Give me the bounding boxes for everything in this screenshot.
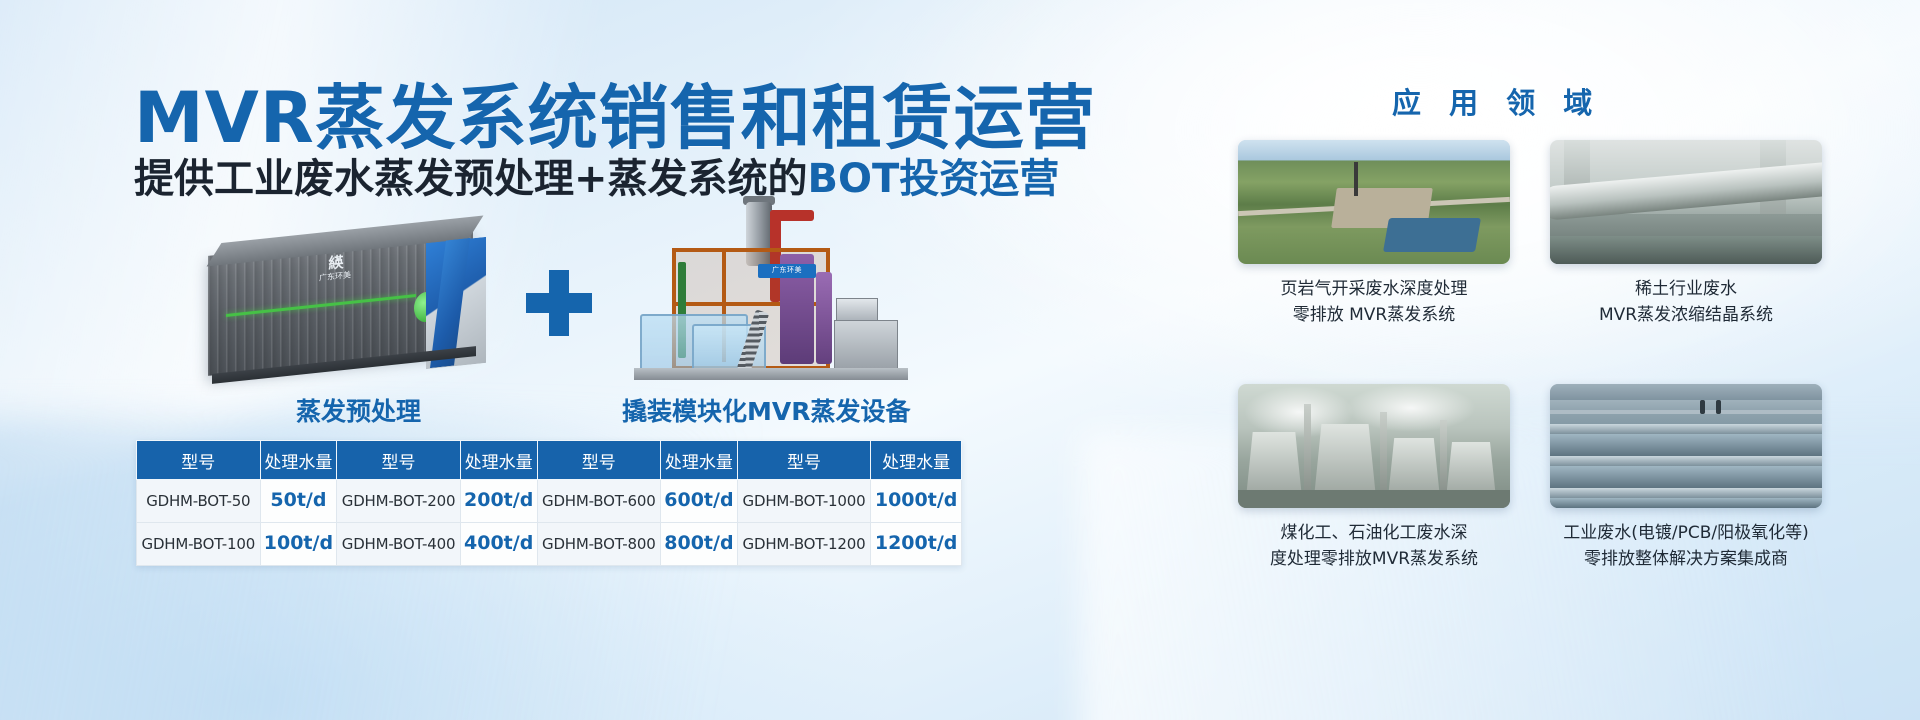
table-header-cell: 处理水量	[260, 441, 337, 480]
table-cell-capacity: 100t/d	[260, 523, 337, 566]
page-subtitle: 提供工业废水蒸发预处理+蒸发系统的BOT投资运营	[134, 146, 1059, 204]
caption-line-2: 零排放 MVR蒸发系统	[1238, 302, 1510, 328]
table-row: GDHM-BOT-100 100t/d GDHM-BOT-400 400t/d …	[137, 523, 962, 566]
table-cell-model: GDHM-BOT-800	[537, 523, 661, 566]
application-caption: 工业废水(电镀/PCB/阳极氧化等) 零排放整体解决方案集成商	[1550, 520, 1822, 573]
tank-water	[1550, 466, 1822, 488]
chimney-stack	[1304, 404, 1311, 490]
tank-water	[1550, 498, 1822, 508]
tank-water	[1550, 434, 1822, 456]
table-header-cell: 处理水量	[871, 441, 962, 480]
table-header-cell: 型号	[137, 441, 261, 480]
skid-mounted-mvr-equipment-image: 广东环美	[630, 202, 940, 402]
worker-figure	[1716, 400, 1721, 414]
applications-title: 应 用 领 域	[1392, 80, 1601, 122]
sky-band	[1238, 140, 1510, 160]
cooling-tower	[1314, 424, 1376, 498]
table-cell-model: GDHM-BOT-200	[337, 480, 461, 523]
tank-divider	[1550, 456, 1822, 466]
specification-table: 型号 处理水量 型号 处理水量 型号 处理水量 型号 处理水量 GDHM-BOT…	[136, 440, 962, 566]
table-header-cell: 处理水量	[661, 441, 738, 480]
equipment-brand-badge: 广东环美	[758, 264, 816, 278]
purple-column-vessel-secondary	[816, 272, 832, 364]
product-label-mvr-equipment: 撬装模块化MVR蒸发设备	[622, 392, 910, 428]
cooling-tower	[1388, 438, 1440, 498]
promo-banner: MVR蒸发系统销售和租赁运营 提供工业废水蒸发预处理+蒸发系统的BOT投资运营 …	[0, 0, 1920, 720]
application-card-shale-gas[interactable]: 页岩气开采废水深度处理 零排放 MVR蒸发系统	[1238, 140, 1510, 329]
application-caption: 煤化工、石油化工废水深 度处理零排放MVR蒸发系统	[1238, 520, 1510, 573]
caption-line-1: 工业废水(电镀/PCB/阳极氧化等)	[1550, 520, 1822, 546]
worker-figure	[1700, 400, 1705, 414]
chimney-stack	[1440, 420, 1447, 490]
subtitle-accent: BOT投资运营	[808, 156, 1060, 202]
subtitle-main: 提供工业废水蒸发预处理+蒸发系统的	[134, 156, 808, 202]
table-cell-capacity: 600t/d	[661, 480, 738, 523]
caption-line-2: MVR蒸发浓缩结晶系统	[1550, 302, 1822, 328]
red-pipe-horizontal	[770, 210, 814, 221]
table-header-row: 型号 处理水量 型号 处理水量 型号 处理水量 型号 处理水量	[137, 441, 962, 480]
table-header-cell: 处理水量	[460, 441, 537, 480]
table-cell-capacity: 400t/d	[460, 523, 537, 566]
application-caption: 稀土行业废水 MVR蒸发浓缩结晶系统	[1550, 276, 1822, 329]
application-caption: 页岩气开采废水深度处理 零排放 MVR蒸发系统	[1238, 276, 1510, 329]
evaporation-pretreatment-unit-image: 緓 广东环美	[208, 232, 508, 382]
control-box-upper	[836, 298, 878, 322]
walkway-rail	[1550, 410, 1822, 414]
control-cabinet	[834, 320, 898, 370]
table-row: GDHM-BOT-50 50t/d GDHM-BOT-200 200t/d GD…	[137, 480, 962, 523]
plant-ground	[1238, 490, 1510, 508]
table-cell-model: GDHM-BOT-600	[537, 480, 661, 523]
table-cell-capacity: 800t/d	[661, 523, 738, 566]
table-cell-capacity: 50t/d	[260, 480, 337, 523]
table-header-cell: 型号	[537, 441, 661, 480]
drilling-rig	[1354, 162, 1358, 196]
tank-divider	[1550, 424, 1822, 434]
caption-line-2: 零排放整体解决方案集成商	[1550, 546, 1822, 572]
table-cell-capacity: 200t/d	[460, 480, 537, 523]
channel-water	[1550, 236, 1822, 264]
table-cell-capacity: 1000t/d	[871, 480, 962, 523]
table-cell-model: GDHM-BOT-400	[337, 523, 461, 566]
table-cell-model: GDHM-BOT-1000	[737, 480, 871, 523]
caption-line-1: 页岩气开采废水深度处理	[1238, 276, 1510, 302]
table-cell-model: GDHM-BOT-1200	[737, 523, 871, 566]
application-card-rare-earth[interactable]: 稀土行业废水 MVR蒸发浓缩结晶系统	[1550, 140, 1822, 329]
water-pond	[1383, 218, 1481, 252]
industrial-wastewater-tanks-photo	[1550, 384, 1822, 508]
skid-base	[634, 368, 908, 380]
application-card-coal-chemical[interactable]: 煤化工、石油化工废水深 度处理零排放MVR蒸发系统	[1238, 384, 1510, 573]
caption-line-1: 稀土行业废水	[1550, 276, 1822, 302]
applications-grid: 页岩气开采废水深度处理 零排放 MVR蒸发系统 稀土行业废水 MVR蒸发浓缩结晶…	[1238, 140, 1858, 680]
facility-roof	[1550, 384, 1822, 400]
shale-gas-field-photo	[1238, 140, 1510, 264]
chimney-stack	[1380, 412, 1387, 490]
plus-icon	[526, 270, 592, 336]
table-cell-model: GDHM-BOT-50	[137, 480, 261, 523]
tank-divider	[1550, 488, 1822, 498]
product-label-pretreatment: 蒸发预处理	[296, 392, 421, 428]
rare-earth-wastewater-channel-photo	[1550, 140, 1822, 264]
table-cell-model: GDHM-BOT-100	[137, 523, 261, 566]
coal-chemical-plant-photo	[1238, 384, 1510, 508]
caption-line-2: 度处理零排放MVR蒸发系统	[1238, 546, 1510, 572]
application-card-industrial-wastewater[interactable]: 工业废水(电镀/PCB/阳极氧化等) 零排放整体解决方案集成商	[1550, 384, 1822, 573]
table-cell-capacity: 1200t/d	[871, 523, 962, 566]
caption-line-1: 煤化工、石油化工废水深	[1238, 520, 1510, 546]
table-header-cell: 型号	[737, 441, 871, 480]
table-header-cell: 型号	[337, 441, 461, 480]
cooling-tower	[1246, 432, 1302, 498]
